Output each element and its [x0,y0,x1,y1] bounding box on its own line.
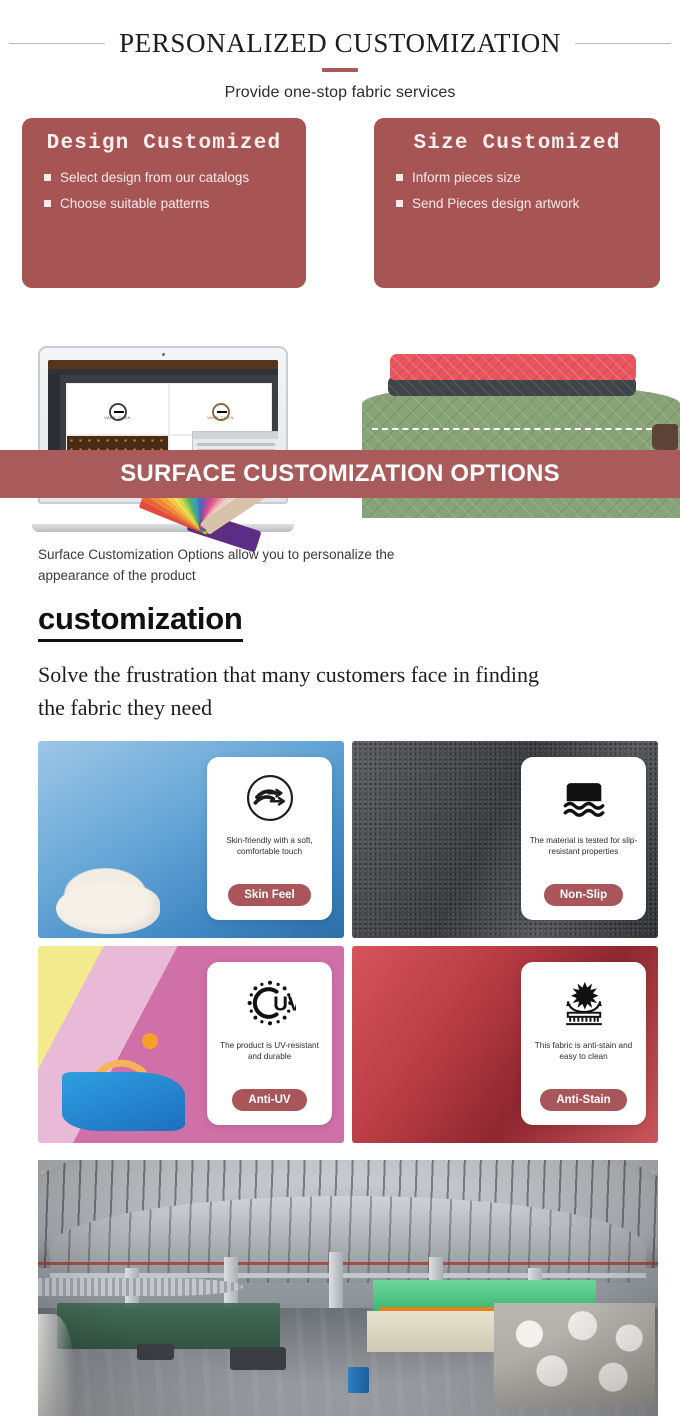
anti-stain-description: This fabric is anti-stain and easy to cl… [529,1040,638,1063]
non-slip-pill[interactable]: Non-Slip [544,884,623,906]
list-item: Inform pieces size [396,165,660,191]
laptop-design-software-image: VANE CHEN VANE CHEN [32,346,294,536]
sun-dot-icon [142,1033,158,1049]
anti-uv-description: The product is UV-resistant and durable [215,1040,324,1063]
design-customized-card: Design Customized Select design from our… [22,118,306,288]
customization-cards-section: Design Customized Select design from our… [0,118,680,418]
header-subtitle: Provide one-stop fabric services [0,84,680,102]
non-slip-wave-icon [556,770,612,826]
canvas-cell-logo-grey: VANE CHEN [66,383,169,435]
red-quilted-fabric [390,354,636,380]
product-detail-page: PERSONALIZED CUSTOMIZATION Provide one-s… [0,0,680,1416]
anti-stain-info-card: This fabric is anti-stain and easy to cl… [521,962,646,1125]
banner-title: SURFACE CUSTOMIZATION OPTIONS [120,460,560,488]
hand-holding-scissors [652,424,678,450]
list-item: Send Pieces design artwork [396,191,660,217]
brand-logo-text: VANE CHEN [67,415,168,420]
surface-options-banner: SURFACE CUSTOMIZATION OPTIONS [0,450,680,498]
feature-tile-anti-uv[interactable]: UV The product is UV-resistant and durab… [38,946,344,1143]
intro-tagline: Solve the frustration that many customer… [38,658,558,724]
design-card-title: Design Customized [22,118,306,155]
anti-uv-pill[interactable]: Anti-UV [232,1089,306,1111]
fabric-cut-dashed-line [372,428,652,430]
intro-keyword: customization [38,601,243,642]
list-item: Select design from our catalogs [44,165,306,191]
anti-stain-pill[interactable]: Anti-Stain [540,1089,626,1111]
factory-photo-vignette [38,1160,658,1416]
non-slip-description: The material is tested for slip-resistan… [529,835,638,858]
title-underline-accent [322,68,358,72]
laptop-camera-icon [162,353,165,356]
anti-stain-splash-icon [556,975,612,1031]
size-card-bullets: Inform pieces size Send Pieces design ar… [374,165,660,218]
intro-section: Surface Customization Options allow you … [38,545,638,724]
uv-sun-icon: UV [242,975,298,1031]
size-customized-card: Size Customized Inform pieces size Send … [374,118,660,288]
skin-feel-info-card: Skin-friendly with a soft, comfortable t… [207,757,332,920]
header-title-row: PERSONALIZED CUSTOMIZATION [0,0,680,59]
header-rule-right [575,43,671,44]
soft-touch-icon [242,770,298,826]
header-rule-left [9,43,105,44]
feature-tile-anti-stain[interactable]: This fabric is anti-stain and easy to cl… [352,946,658,1143]
brand-logo-text: VANE CHEN [170,415,271,420]
feature-tile-non-slip[interactable]: The material is tested for slip-resistan… [352,741,658,938]
feature-grid: Skin-friendly with a soft, comfortable t… [38,741,658,1143]
scissors-icon [632,414,678,448]
anti-uv-info-card: UV The product is UV-resistant and durab… [207,962,332,1125]
svg-text:UV: UV [273,993,296,1015]
uv-deflect-arrow-icon [77,1052,159,1111]
skin-feel-pill[interactable]: Skin Feel [228,884,311,906]
non-slip-info-card: The material is tested for slip-resistan… [521,757,646,920]
size-card-title: Size Customized [374,118,660,155]
factory-interior-photo [38,1160,658,1416]
feature-tile-skin-feel[interactable]: Skin-friendly with a soft, comfortable t… [38,741,344,938]
design-card-bullets: Select design from our catalogs Choose s… [22,165,306,218]
list-item: Choose suitable patterns [44,191,306,217]
design-app-titlebar [48,360,278,369]
page-title: PERSONALIZED CUSTOMIZATION [119,28,561,59]
skin-feel-description: Skin-friendly with a soft, comfortable t… [215,835,324,858]
header-section: PERSONALIZED CUSTOMIZATION Provide one-s… [0,0,680,118]
intro-lead-text: Surface Customization Options allow you … [38,545,408,587]
